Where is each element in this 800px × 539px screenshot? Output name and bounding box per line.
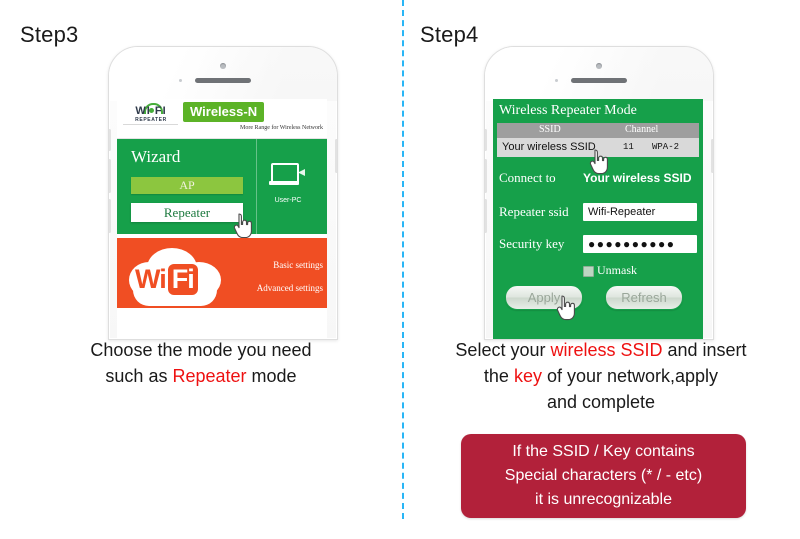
warning-box: If the SSID / Key contains Special chara…	[461, 434, 746, 518]
phone-sheen	[109, 47, 337, 101]
phone-sensor-icon	[555, 79, 558, 82]
field-label: Connect to	[499, 170, 556, 186]
caption-line-2: the key of your network,apply	[412, 363, 790, 389]
column-header-channel: Channel	[625, 124, 658, 135]
phone-mute-switch	[484, 129, 487, 151]
phone-mute-switch	[108, 129, 111, 151]
phone-camera-icon	[596, 63, 602, 69]
user-pc-label: User-PC	[265, 197, 311, 204]
phone-power-button	[335, 139, 338, 173]
step3-caption: Choose the mode you need such as Repeate…	[20, 337, 382, 389]
field-label: Repeater ssid	[499, 204, 569, 220]
phone-power-button	[711, 139, 714, 173]
step3-panel: Step3 WI FI REPEATER	[0, 0, 402, 539]
caption-highlight-ssid: wireless SSID	[550, 340, 662, 360]
refresh-button[interactable]: Refresh	[605, 285, 683, 310]
advanced-settings-link[interactable]: Advanced settings	[257, 283, 323, 293]
phone-speaker-icon	[195, 78, 251, 83]
repeater-ssid-input[interactable]: Wifi-Repeater	[583, 203, 697, 221]
caption-line-1: Select your wireless SSID and insert	[412, 337, 790, 363]
wifi-word-b: Fi	[168, 264, 198, 295]
scan-result-row[interactable]: Your wireless SSID 11 WPA-2	[497, 138, 699, 157]
caption-line-3: and complete	[412, 389, 790, 415]
caption-highlight-key: key	[514, 366, 542, 386]
phone-speaker-icon	[571, 78, 627, 83]
wizard-divider	[256, 139, 257, 234]
computer-icon	[269, 163, 305, 193]
router-header: WI FI REPEATER Wireless-N More Range for…	[117, 99, 327, 139]
repeater-mode-form: Wireless Repeater Mode SSID Channel Your…	[493, 99, 703, 339]
caption-line-1: Choose the mode you need	[20, 337, 382, 363]
field-label: Security key	[499, 236, 564, 252]
caption-line1-pre: Select your	[455, 340, 550, 360]
step3-title: Step3	[20, 22, 79, 48]
router-admin-screen-step3: WI FI REPEATER Wireless-N More Range for…	[117, 99, 327, 339]
unmask-checkbox[interactable]	[583, 266, 594, 277]
step4-title: Step4	[420, 22, 479, 48]
phone-camera-icon	[220, 63, 226, 69]
step4-caption: Select your wireless SSID and insert the…	[412, 337, 790, 415]
caption-line2-post: of your network,apply	[542, 366, 718, 386]
scan-row-channel: 11	[623, 142, 634, 152]
field-repeater-ssid: Repeater ssid Wifi-Repeater	[499, 203, 697, 223]
warning-line-1: If the SSID / Key contains	[505, 440, 702, 464]
phone-mockup-step3: WI FI REPEATER Wireless-N More Range for…	[108, 46, 338, 340]
header-divider	[123, 124, 178, 125]
wireless-n-badge: Wireless-N	[183, 102, 264, 122]
column-header-ssid: SSID	[539, 124, 561, 135]
wifi-word-a: Wi	[135, 264, 166, 294]
phone-volume-down-button	[484, 199, 487, 233]
field-security-key: Security key ●●●●●●●●●●	[499, 235, 697, 255]
phone-volume-down-button	[108, 199, 111, 233]
repeater-mode-heading: Wireless Repeater Mode	[499, 103, 637, 119]
caption-line-2: such as Repeater mode	[20, 363, 382, 389]
warning-line-3: it is unrecognizable	[505, 488, 702, 512]
phone-mockup-step4: Wireless Repeater Mode SSID Channel Your…	[484, 46, 714, 340]
field-connect-to: Connect to Your wireless SSID	[499, 169, 697, 189]
signal-icon	[298, 169, 305, 176]
caption-line2-pre: the	[484, 366, 514, 386]
ap-mode-button[interactable]: AP	[131, 177, 243, 194]
phone-sheen	[485, 47, 713, 101]
router-tagline: More Range for Wireless Network	[240, 125, 323, 131]
repeater-mode-button[interactable]: Repeater	[131, 203, 243, 222]
basic-settings-link[interactable]: Basic settings	[273, 260, 323, 270]
wifi-banner: WiFi Basic settings Advanced settings	[117, 238, 327, 308]
security-key-input[interactable]: ●●●●●●●●●●	[583, 235, 697, 253]
router-admin-screen-step4: Wireless Repeater Mode SSID Channel Your…	[493, 99, 703, 339]
tutorial-page: Step3 WI FI REPEATER	[0, 0, 800, 539]
scan-row-ssid: Your wireless SSID	[502, 141, 596, 153]
scan-table-header: SSID Channel	[497, 123, 699, 138]
scan-row-security: WPA-2	[652, 142, 679, 152]
caption-highlight-repeater: Repeater	[172, 366, 246, 386]
warning-line-2: Special characters (* / - etc)	[505, 464, 702, 488]
logo-text: WI FI	[124, 105, 178, 117]
phone-sensor-icon	[179, 79, 182, 82]
unmask-label: Unmask	[597, 263, 637, 278]
caption-line2-pre: such as	[105, 366, 172, 386]
wizard-heading: Wizard	[131, 147, 180, 167]
wifi-wordmark: WiFi	[135, 264, 213, 295]
phone-volume-up-button	[108, 159, 111, 193]
phone-volume-up-button	[484, 159, 487, 193]
wizard-panel: Wizard AP Repeater User-PC	[117, 139, 327, 234]
caption-line1-post: and insert	[663, 340, 747, 360]
apply-button[interactable]: Apply	[505, 285, 583, 310]
caption-line2-post: mode	[247, 366, 297, 386]
logo-subtext: REPEATER	[124, 117, 178, 123]
connect-to-value: Your wireless SSID	[583, 171, 692, 185]
keyboard-shape	[269, 181, 299, 185]
